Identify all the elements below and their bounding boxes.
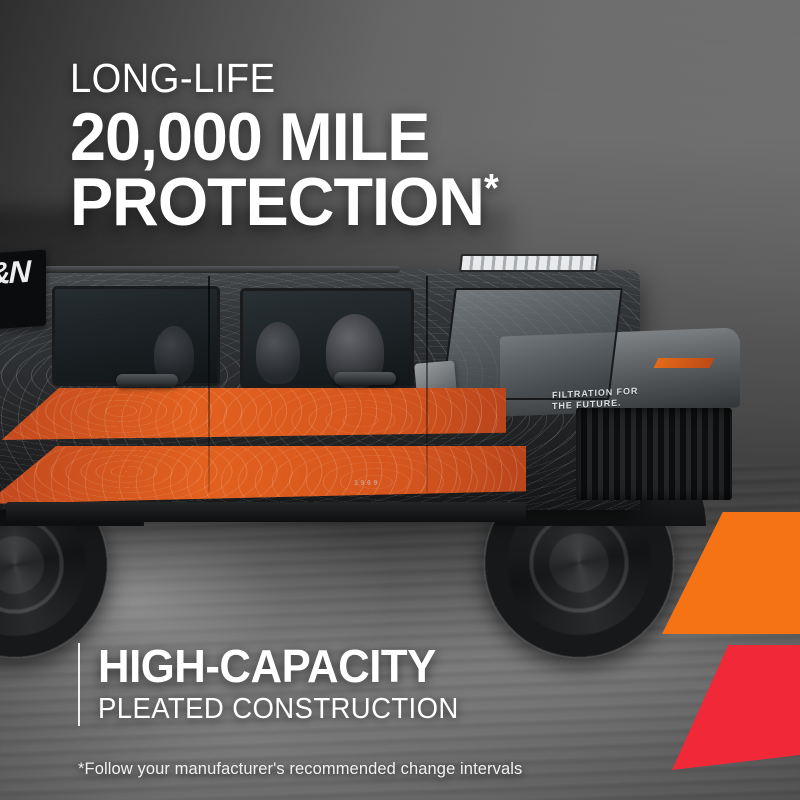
livery-stripe-upper	[0, 388, 506, 440]
hood-orange-accent	[654, 358, 715, 368]
front-door-handle	[334, 372, 396, 385]
door-panel-gap-front	[426, 276, 428, 492]
door-panel-gap-rear	[208, 276, 210, 492]
passenger-occupant	[256, 322, 300, 384]
subhead-block: HIGH-CAPACITY PLEATED CONSTRUCTION	[78, 643, 478, 726]
subhead-line-2: PLEATED CONSTRUCTION	[98, 692, 459, 726]
advertisement-canvas: FILTRATION FOR THE FUTURE. 1969 K&N LONG…	[0, 0, 800, 800]
windshield	[441, 288, 623, 400]
rear-door-handle	[116, 374, 178, 387]
rocker-panel	[6, 502, 526, 522]
headline-line-2-text: PROTECTION	[70, 164, 484, 240]
kn-decal-text: K&N	[0, 259, 29, 289]
headline-block: LONG-LIFE 20,000 MILE PROTECTION*	[70, 58, 520, 236]
livery-topographic-pattern-upper	[0, 388, 506, 440]
headline-line-2: PROTECTION*	[70, 170, 498, 235]
subhead-line-1: HIGH-CAPACITY	[98, 643, 459, 690]
hood-decal-text: FILTRATION FOR THE FUTURE.	[552, 386, 638, 412]
headline-eyebrow: LONG-LIFE	[70, 58, 489, 99]
vehicle-grille	[576, 408, 732, 500]
roof-rack	[0, 266, 400, 273]
disclaimer-text: *Follow your manufacturer's recommended …	[78, 760, 522, 779]
vehicle-illustration: FILTRATION FOR THE FUTURE. 1969 K&N	[0, 240, 770, 660]
headline-asterisk: *	[484, 167, 498, 211]
kn-brand-decal: K&N	[0, 250, 46, 335]
body-badge: 1969	[354, 480, 380, 487]
roof-light-bar	[459, 254, 599, 272]
rear-side-window	[52, 286, 220, 386]
headline-line-1: 20,000 MILE	[70, 105, 498, 170]
